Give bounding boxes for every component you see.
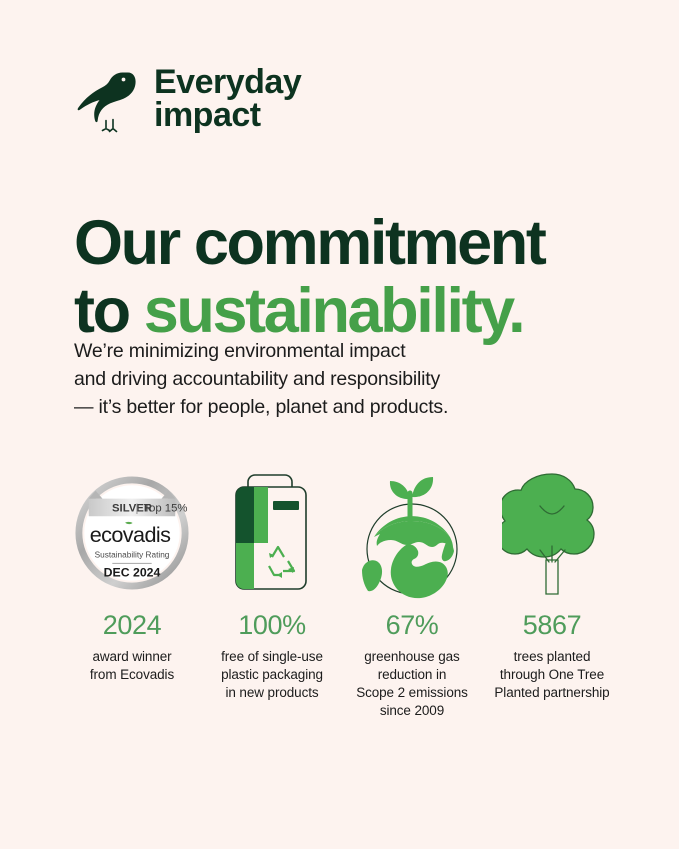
sustainability-infographic: Everyday impact Our commitment to sustai… [0,0,679,849]
globe-sprout-icon [356,465,468,599]
intro-paragraph: We’re minimizing environmental impact an… [74,337,574,422]
brand-name: Everyday impact [154,64,301,132]
stat-value: 100% [238,612,305,639]
headline-line-1: Our commitment [74,208,544,278]
stat-item: SILVER Top 15% | ecovadis Sustainability… [62,462,202,684]
tree-icon [502,468,602,596]
stat-item: 5867 trees planted through One Tree Plan… [482,462,622,702]
stat-value: 2024 [103,612,161,639]
ecovadis-medal-icon: SILVER Top 15% | ecovadis Sustainability… [73,473,191,591]
stat-caption: award winner from Ecovadis [90,648,174,684]
svg-text:DEC 2024: DEC 2024 [104,565,161,579]
bird-icon [76,62,142,134]
page-title: Our commitment to sustainability. [74,210,634,345]
stat-item: 100% free of single-use plastic packagin… [202,462,342,702]
stat-item: 67% greenhouse gas reduction in Scope 2 … [342,462,482,720]
stat-icon-wrapper [226,462,318,602]
svg-text:Top 15%: Top 15% [143,502,187,514]
stat-icon-wrapper [356,462,468,602]
headline-line-2-accent: sustainability. [144,276,523,346]
stat-caption: greenhouse gas reduction in Scope 2 emis… [356,648,468,720]
svg-text:ecovadis: ecovadis [90,522,171,547]
stat-caption: trees planted through One Tree Planted p… [494,648,609,702]
brand-logo: Everyday impact [76,62,301,134]
stat-caption: free of single-use plastic packaging in … [221,648,323,702]
recyclable-packaging-icon [226,471,318,593]
stat-value: 67% [386,612,439,639]
headline-line-2-prefix: to [74,276,144,346]
stat-icon-wrapper [502,462,602,602]
stat-icon-wrapper: SILVER Top 15% | ecovadis Sustainability… [73,462,191,602]
svg-text:Sustainability Rating: Sustainability Rating [95,551,170,560]
stats-row: SILVER Top 15% | ecovadis Sustainability… [62,462,622,720]
svg-text:|: | [135,502,138,514]
stat-value: 5867 [523,612,581,639]
